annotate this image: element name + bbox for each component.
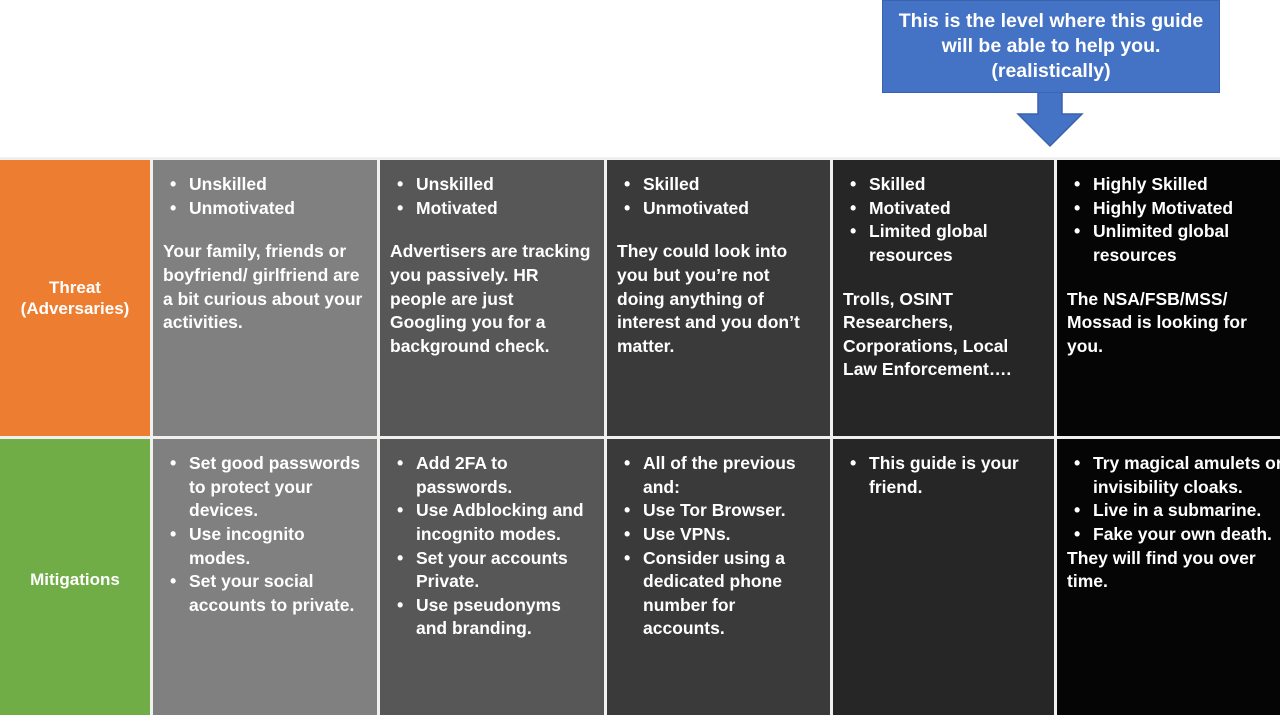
- mitigations-cell-2: Add 2FA to passwords. Use Adblocking and…: [380, 439, 604, 715]
- mitigations-cell-3: All of the previous and: Use Tor Browser…: [607, 439, 830, 715]
- mitigations-bullets-2: Add 2FA to passwords. Use Adblocking and…: [390, 452, 594, 641]
- threat-description-2: Advertisers are tracking you passively. …: [390, 240, 594, 358]
- matrix-grid: Threat (Adversaries) Unskilled Unmotivat…: [0, 157, 1280, 715]
- list-item: Use VPNs.: [617, 523, 820, 547]
- list-item: Use pseudonyms and branding.: [390, 594, 594, 641]
- list-item: Motivated: [843, 197, 1044, 221]
- list-item: All of the previous and:: [617, 452, 820, 499]
- list-item: Use incognito modes.: [163, 523, 367, 570]
- list-item: Use Tor Browser.: [617, 499, 820, 523]
- mitigations-cell-4: This guide is your friend.: [833, 439, 1054, 715]
- list-item: Unskilled: [390, 173, 594, 197]
- mitigations-bullets-1: Set good passwords to protect your devic…: [163, 452, 367, 617]
- threat-bullets-2: Unskilled Motivated: [390, 173, 594, 220]
- row-header-mitigations-label: Mitigations: [30, 569, 120, 590]
- threat-description-4: Trolls, OSINT Researchers, Corporations,…: [843, 288, 1044, 383]
- threat-cell-5: Highly Skilled Highly Motivated Unlimite…: [1057, 160, 1280, 436]
- row-header-mitigations: Mitigations: [0, 439, 150, 715]
- arrow-down-icon: [1002, 92, 1098, 148]
- threat-description-5: The NSA/FSB/MSS/ Mossad is looking for y…: [1067, 288, 1280, 359]
- mitigations-description-5: They will find you over time.: [1067, 547, 1280, 594]
- threat-bullets-5: Highly Skilled Highly Motivated Unlimite…: [1067, 173, 1280, 268]
- list-item: Add 2FA to passwords.: [390, 452, 594, 499]
- mitigations-bullets-5: Try magical amulets or invisibility cloa…: [1067, 452, 1280, 547]
- guide-level-callout: This is the level where this guide will …: [882, 0, 1220, 160]
- threat-cell-2: Unskilled Motivated Advertisers are trac…: [380, 160, 604, 436]
- list-item: Use Adblocking and incognito modes.: [390, 499, 594, 546]
- list-item: Try magical amulets or invisibility cloa…: [1067, 452, 1280, 499]
- threat-cell-3: Skilled Unmotivated They could look into…: [607, 160, 830, 436]
- list-item: Set your accounts Private.: [390, 547, 594, 594]
- mitigations-cell-1: Set good passwords to protect your devic…: [153, 439, 377, 715]
- list-item: Consider using a dedicated phone number …: [617, 547, 820, 642]
- threat-description-1: Your family, friends or boyfriend/ girlf…: [163, 240, 367, 335]
- list-item: Unmotivated: [163, 197, 367, 221]
- threat-bullets-1: Unskilled Unmotivated: [163, 173, 367, 220]
- threat-bullets-4: Skilled Motivated Limited global resourc…: [843, 173, 1044, 268]
- list-item: Set your social accounts to private.: [163, 570, 367, 617]
- threat-cell-4: Skilled Motivated Limited global resourc…: [833, 160, 1054, 436]
- mitigations-cell-5: Try magical amulets or invisibility cloa…: [1057, 439, 1280, 715]
- list-item: This guide is your friend.: [843, 452, 1044, 499]
- list-item: Unskilled: [163, 173, 367, 197]
- list-item: Unlimited global resources: [1067, 220, 1280, 267]
- list-item: Skilled: [843, 173, 1044, 197]
- list-item: Highly Motivated: [1067, 197, 1280, 221]
- list-item: Highly Skilled: [1067, 173, 1280, 197]
- threat-description-3: They could look into you but you’re not …: [617, 240, 820, 358]
- mitigations-bullets-3: All of the previous and: Use Tor Browser…: [617, 452, 820, 641]
- list-item: Live in a submarine.: [1067, 499, 1280, 523]
- list-item: Set good passwords to protect your devic…: [163, 452, 367, 523]
- list-item: Unmotivated: [617, 197, 820, 221]
- threat-cell-1: Unskilled Unmotivated Your family, frien…: [153, 160, 377, 436]
- mitigations-bullets-4: This guide is your friend.: [843, 452, 1044, 499]
- threat-model-matrix-page: This is the level where this guide will …: [0, 0, 1280, 715]
- list-item: Limited global resources: [843, 220, 1044, 267]
- threat-bullets-3: Skilled Unmotivated: [617, 173, 820, 220]
- row-header-threat: Threat (Adversaries): [0, 160, 150, 436]
- list-item: Motivated: [390, 197, 594, 221]
- callout-box: This is the level where this guide will …: [882, 0, 1220, 93]
- callout-text: This is the level where this guide will …: [899, 9, 1204, 84]
- list-item: Skilled: [617, 173, 820, 197]
- row-header-threat-label: Threat (Adversaries): [21, 277, 130, 320]
- list-item: Fake your own death.: [1067, 523, 1280, 547]
